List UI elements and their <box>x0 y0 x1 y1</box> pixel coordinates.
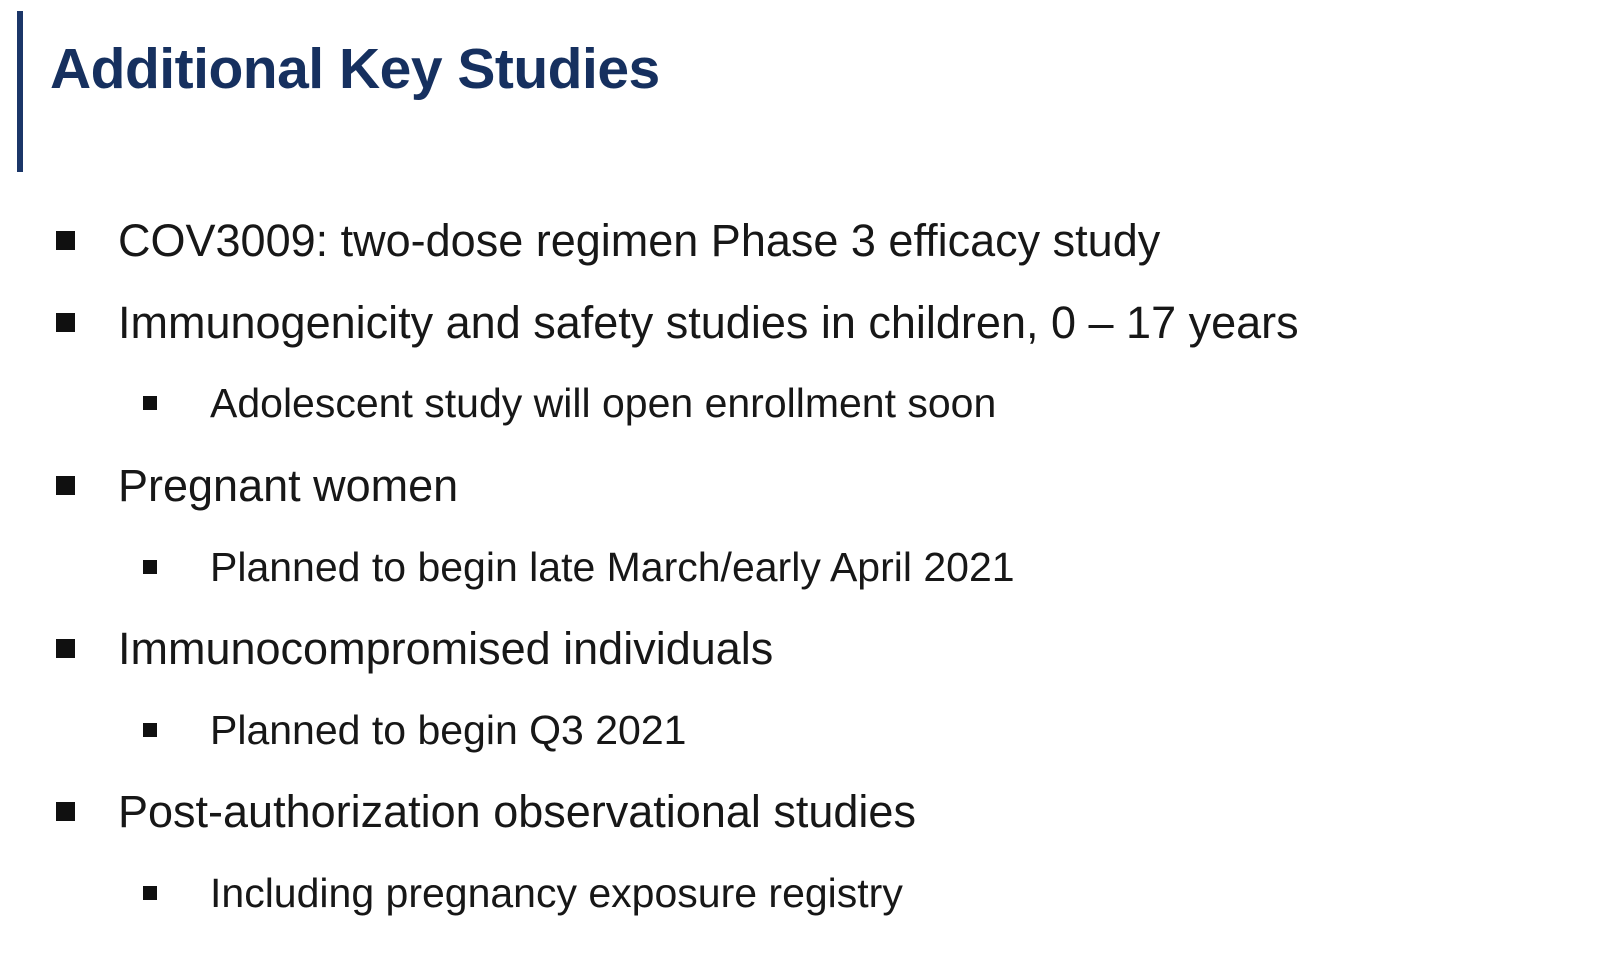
bullet-item: Planned to begin Q3 2021 <box>0 706 1600 754</box>
bullet-item: Adolescent study will open enrollment so… <box>0 379 1600 427</box>
title-accent-bar <box>17 11 23 172</box>
bullet-item: COV3009: two-dose regimen Phase 3 effica… <box>0 216 1600 264</box>
bullet-item-label: Immunogenicity and safety studies in chi… <box>118 300 1299 345</box>
bullet-item-label: Post-authorization observational studies <box>118 789 916 834</box>
square-bullet-icon <box>56 802 75 821</box>
bullet-item-label: Pregnant women <box>118 463 458 508</box>
small-square-bullet-icon <box>143 560 157 574</box>
bullet-item: Planned to begin late March/early April … <box>0 543 1600 591</box>
bullet-item: Post-authorization observational studies <box>0 787 1600 835</box>
square-bullet-icon <box>56 476 75 495</box>
bullet-item: Including pregnancy exposure registry <box>0 869 1600 917</box>
square-bullet-icon <box>56 639 75 658</box>
bullet-item-label: Including pregnancy exposure registry <box>210 873 903 914</box>
bullet-item: Pregnant women <box>0 461 1600 509</box>
bullet-item: Immunogenicity and safety studies in chi… <box>0 298 1600 346</box>
page-title: Additional Key Studies <box>50 36 660 102</box>
slide-title-area: Additional Key Studies <box>0 0 1600 185</box>
square-bullet-icon <box>56 231 75 250</box>
slide-canvas: Additional Key Studies COV3009: two-dose… <box>0 0 1600 964</box>
bullet-item-label: Immunocompromised individuals <box>118 626 773 671</box>
small-square-bullet-icon <box>143 723 157 737</box>
small-square-bullet-icon <box>143 886 157 900</box>
bullet-item-label: Planned to begin Q3 2021 <box>210 710 686 751</box>
bullet-item-label: COV3009: two-dose regimen Phase 3 effica… <box>118 218 1160 263</box>
square-bullet-icon <box>56 313 75 332</box>
small-square-bullet-icon <box>143 396 157 410</box>
bullet-item-label: Adolescent study will open enrollment so… <box>210 383 996 424</box>
bullet-item: Immunocompromised individuals <box>0 624 1600 672</box>
bullet-item-label: Planned to begin late March/early April … <box>210 547 1015 588</box>
